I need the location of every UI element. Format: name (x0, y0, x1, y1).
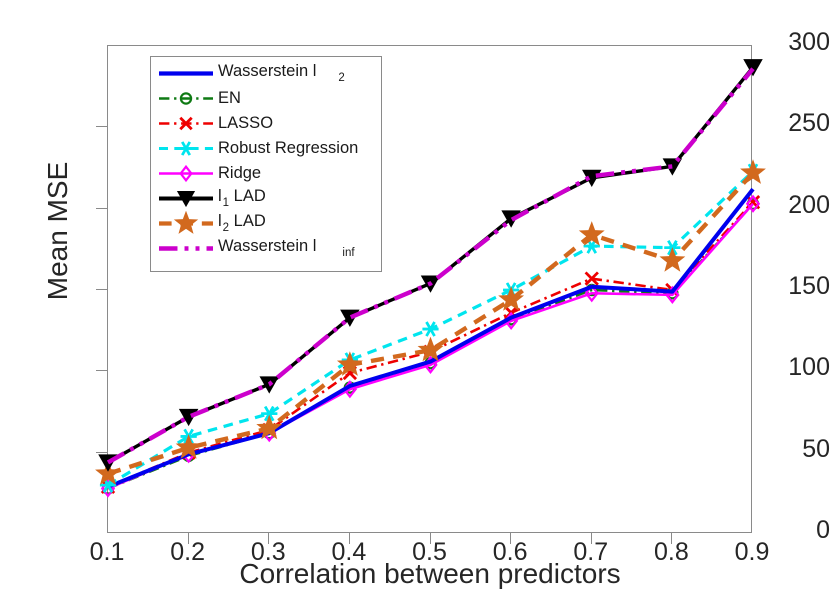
legend-item-2[interactable]: LASSO (151, 111, 381, 136)
legend-label-3: Robust Regression (215, 140, 358, 157)
x-tick-label: 0.6 (470, 538, 550, 567)
x-tick-label: 0.2 (148, 538, 228, 567)
legend-label-subscript: 1 (222, 197, 229, 209)
legend-item-7[interactable]: Wasserstein linf (151, 236, 381, 261)
legend-label-6: l2 LAD (215, 213, 266, 234)
legend-marker-asterisk-icon (157, 136, 215, 161)
data-point-marker (659, 247, 685, 272)
legend-item-1[interactable]: EN (151, 86, 381, 111)
x-tick-label: 0.5 (390, 538, 470, 567)
x-tick-label: 0.7 (551, 538, 631, 567)
legend-marker-none-icon (157, 236, 215, 261)
legend-item-5[interactable]: l1 LAD (151, 186, 381, 211)
legend-item-6[interactable]: l2 LAD (151, 211, 381, 236)
x-tick-label: 0.9 (712, 538, 792, 567)
legend-marker-star-icon (157, 211, 215, 236)
y-tick-label: 300 (744, 28, 830, 57)
legend-item-3[interactable]: Robust Regression (151, 136, 381, 161)
legend-label-subscript: 2 (222, 222, 229, 234)
x-tick-label: 0.8 (631, 538, 711, 567)
y-tick-mark (96, 370, 107, 371)
data-point-marker (179, 409, 199, 426)
legend-label-1: EN (215, 90, 241, 107)
y-axis-label: Mean MSE (42, 81, 74, 381)
legend-label-5: l1 LAD (215, 188, 266, 209)
x-tick-label: 0.3 (228, 538, 308, 567)
legend-label-subscript: inf (316, 247, 354, 259)
data-point-marker (179, 142, 194, 155)
legend-label-0: Wasserstein l2 (215, 63, 345, 84)
y-tick-label: 50 (744, 435, 830, 464)
legend-marker-diamond-icon (157, 161, 215, 186)
legend-item-0[interactable]: Wasserstein l2 (151, 61, 381, 86)
legend-marker-triangle-down-icon (157, 186, 215, 211)
legend-label-7: Wasserstein linf (215, 238, 355, 259)
y-tick-label: 250 (744, 109, 830, 138)
legend-item-4[interactable]: Ridge (151, 161, 381, 186)
y-tick-label: 100 (744, 353, 830, 382)
chart-figure: Mean MSE Correlation between predictors … (0, 0, 830, 601)
data-point-marker (422, 322, 438, 336)
x-tick-label: 0.4 (309, 538, 389, 567)
x-tick-label: 0.1 (67, 538, 147, 567)
legend-label-4: Ridge (215, 165, 261, 182)
legend[interactable]: Wasserstein l2ENLASSORobust RegressionRi… (150, 56, 382, 272)
legend-label-subscript: 2 (316, 72, 344, 84)
legend-label-2: LASSO (215, 115, 273, 132)
legend-marker-circle-icon (157, 86, 215, 111)
y-tick-mark (96, 208, 107, 209)
y-tick-mark (96, 452, 107, 453)
legend-marker-cross-icon (157, 111, 215, 136)
y-tick-label: 150 (744, 272, 830, 301)
y-tick-mark (96, 126, 107, 127)
data-point-marker (174, 211, 198, 234)
legend-marker-none-icon (157, 61, 215, 86)
y-tick-mark (96, 289, 107, 290)
